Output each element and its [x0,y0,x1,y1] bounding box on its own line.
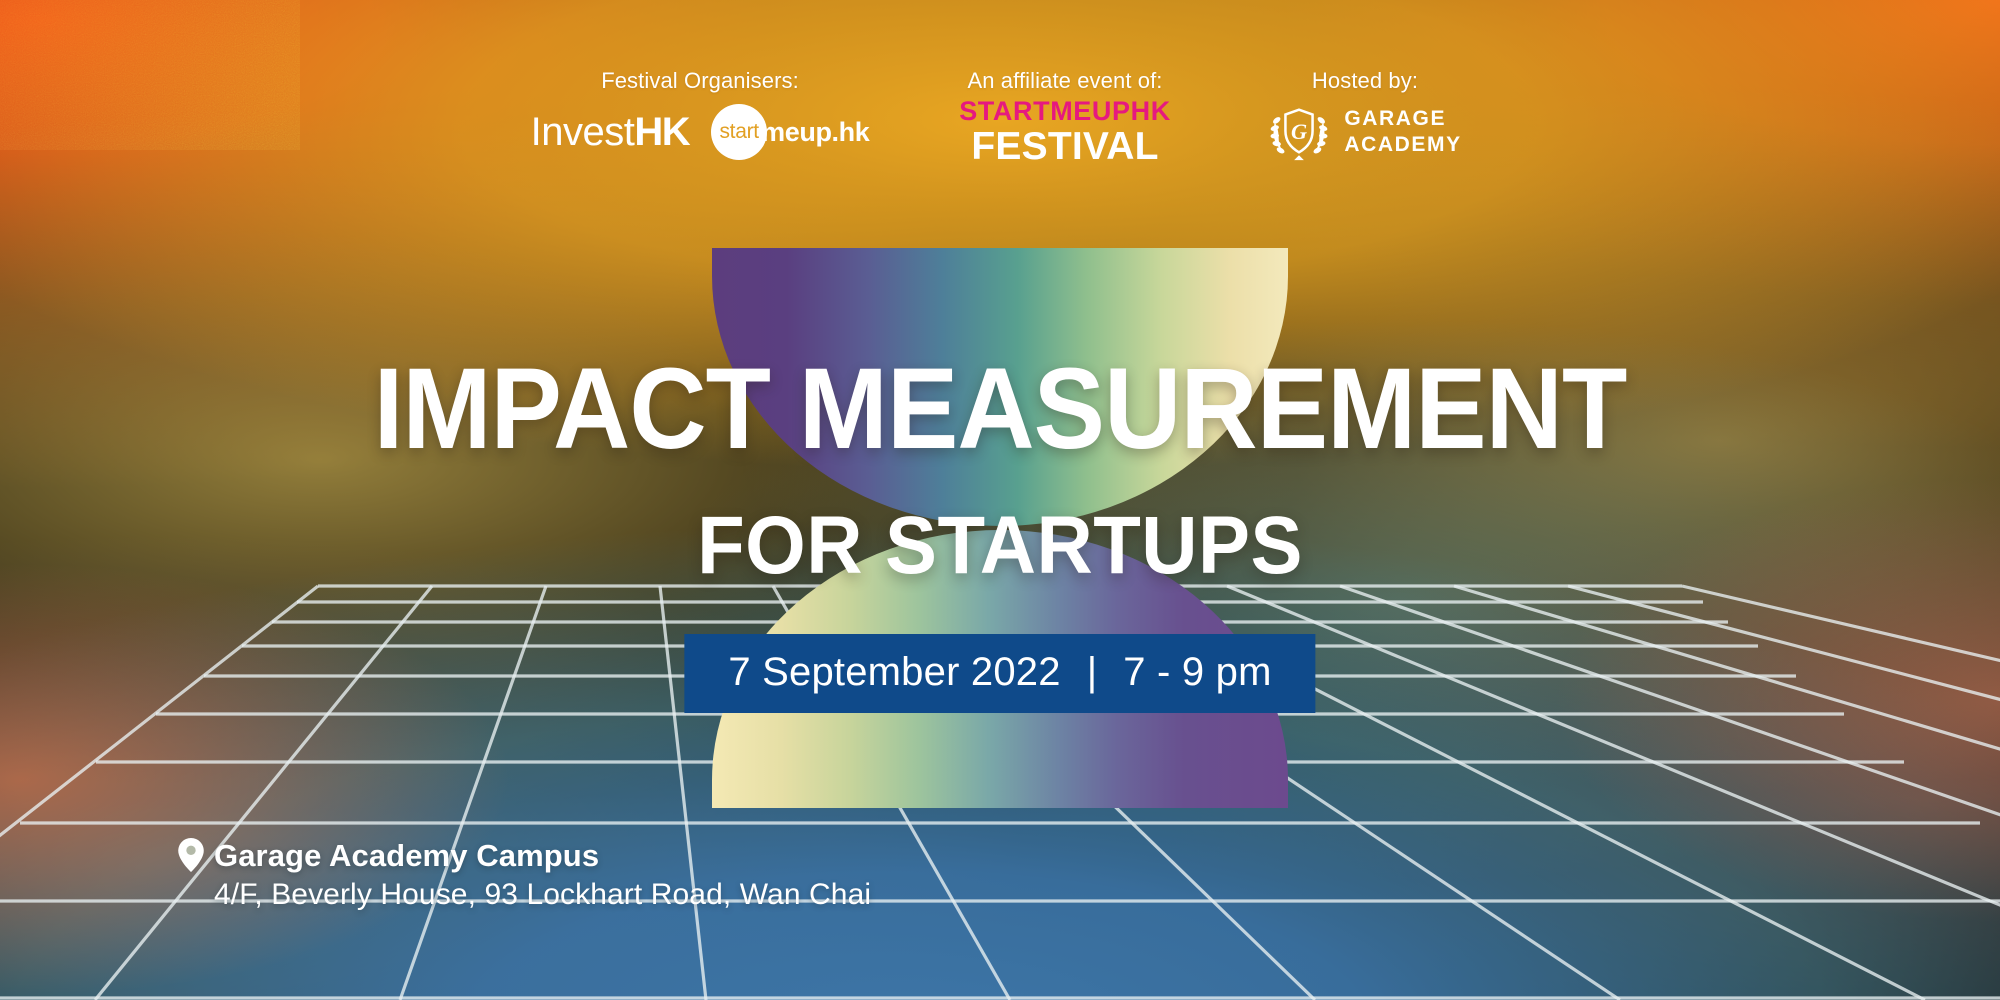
date-time-banner: 7 September 2022|7 - 9 pm [684,634,1315,713]
smuf-festival-logo-line2: FESTIVAL [959,127,1171,166]
date-time-separator: | [1061,650,1124,695]
event-date: 7 September 2022 [728,650,1060,694]
sponsor-group-label: Hosted by: [1312,68,1418,94]
investhk-logo-light-text: Invest [531,110,635,154]
sponsor-group-affiliate: An affiliate event of: STARTMEUPHK FESTI… [915,68,1215,160]
venue-name-row: Garage Academy Campus [178,838,871,874]
garage-academy-logo[interactable]: G [1268,101,1461,163]
sponsor-group-hosted: Hosted by: G [1215,68,1515,160]
garage-academy-logo-line2: ACADEMY [1344,132,1461,158]
investhk-logo[interactable]: InvestHK [531,112,690,152]
smuf-festival-logo-line1: STARTMEUPHK [959,98,1171,125]
startmeuphk-logo[interactable]: start meup.hk [711,104,869,160]
location-pin-icon [178,838,204,872]
venue-block: Garage Academy Campus 4/F, Beverly House… [178,838,871,912]
event-time: 7 - 9 pm [1123,650,1271,694]
sponsor-group-label: Festival Organisers: [601,68,799,94]
sponsor-header-row: Festival Organisers: InvestHK start meup… [0,0,2000,160]
date-time-text: 7 September 2022|7 - 9 pm [728,650,1271,695]
laurel-shield-icon: G [1268,101,1330,163]
investhk-logo-bold-text: HK [634,110,689,154]
svg-text:G: G [1291,119,1307,144]
organiser-logos: InvestHK start meup.hk [531,104,870,160]
startmeuphk-logo-circle: start [711,104,767,160]
sponsor-group-organisers: Festival Organisers: InvestHK start meup… [485,68,915,160]
smuf-festival-logo[interactable]: STARTMEUPHK FESTIVAL [959,98,1171,166]
garage-academy-logo-text: GARAGE ACADEMY [1344,106,1461,159]
garage-academy-logo-line1: GARAGE [1344,106,1461,132]
event-banner: Festival Organisers: InvestHK start meup… [0,0,2000,1000]
venue-address: 4/F, Beverly House, 93 Lockhart Road, Wa… [214,878,871,912]
sponsor-group-label: An affiliate event of: [967,68,1162,94]
host-logos: G [1268,104,1461,160]
startmeuphk-logo-tail: meup.hk [761,117,869,148]
affiliate-logos: STARTMEUPHK FESTIVAL [959,104,1171,160]
venue-name: Garage Academy Campus [214,838,599,874]
